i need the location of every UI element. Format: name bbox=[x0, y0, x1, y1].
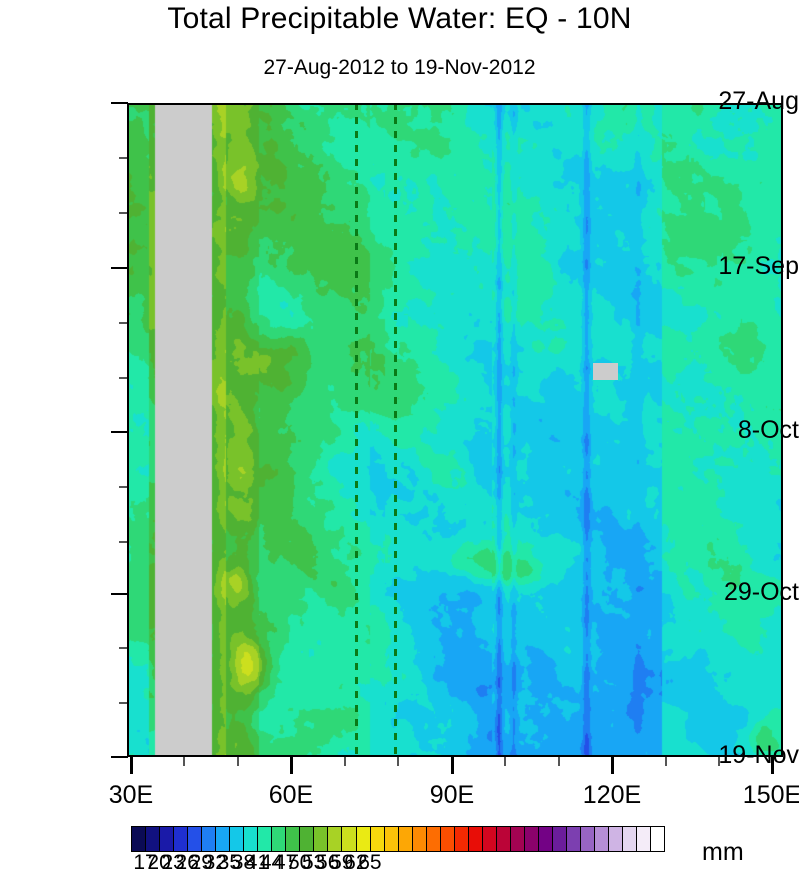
y-tick-mark bbox=[119, 377, 128, 379]
x-tick-mark bbox=[504, 757, 506, 766]
colorbar-swatch bbox=[581, 827, 595, 851]
x-tick-mark bbox=[237, 757, 239, 766]
colorbar-swatch bbox=[230, 827, 244, 851]
vertical-dashed-line-72e bbox=[355, 103, 358, 757]
colorbar-swatch bbox=[328, 827, 342, 851]
colorbar-swatch bbox=[427, 827, 441, 851]
x-tick-mark bbox=[611, 757, 614, 774]
colorbar-swatch bbox=[623, 827, 637, 851]
x-tick-label: 150E bbox=[724, 781, 799, 810]
colorbar-swatch bbox=[469, 827, 483, 851]
colorbar-swatch bbox=[160, 827, 174, 851]
y-tick-label: 29-Oct bbox=[693, 578, 799, 607]
colorbar-swatch bbox=[483, 827, 497, 851]
colorbar-swatch bbox=[595, 827, 609, 851]
x-tick-mark bbox=[558, 757, 560, 766]
x-tick-mark bbox=[344, 757, 346, 766]
figure-subtitle: 27-Aug-2012 to 19-Nov-2012 bbox=[0, 56, 799, 80]
x-tick-label: 30E bbox=[83, 781, 179, 810]
colorbar[interactable] bbox=[131, 826, 665, 852]
colorbar-swatch bbox=[385, 827, 399, 851]
colorbar-swatch bbox=[539, 827, 553, 851]
y-tick-mark bbox=[119, 322, 128, 324]
colorbar-swatch bbox=[342, 827, 356, 851]
y-tick-label: 17-Sep bbox=[693, 252, 799, 281]
y-tick-mark bbox=[119, 647, 128, 649]
colorbar-tick-label: 65 bbox=[350, 851, 390, 875]
colorbar-swatch bbox=[132, 827, 146, 851]
colorbar-swatch bbox=[609, 827, 623, 851]
y-tick-mark bbox=[111, 756, 128, 758]
colorbar-swatch bbox=[553, 827, 567, 851]
x-tick-mark bbox=[130, 757, 133, 774]
colorbar-swatch bbox=[511, 827, 525, 851]
colorbar-swatch bbox=[202, 827, 216, 851]
x-tick-label: 90E bbox=[404, 781, 500, 810]
colorbar-swatch bbox=[272, 827, 286, 851]
y-tick-label: 8-Oct bbox=[693, 416, 799, 445]
colorbar-swatch bbox=[188, 827, 202, 851]
y-tick-mark bbox=[119, 486, 128, 488]
colorbar-swatch bbox=[525, 827, 539, 851]
y-tick-mark bbox=[119, 157, 128, 159]
colorbar-swatch bbox=[637, 827, 651, 851]
colorbar-swatch bbox=[258, 827, 272, 851]
y-tick-mark bbox=[111, 267, 128, 269]
colorbar-swatch bbox=[300, 827, 314, 851]
x-tick-mark bbox=[451, 757, 454, 774]
page-title: Total Precipitable Water: EQ - 10N bbox=[0, 2, 799, 36]
y-tick-label: 19-Nov bbox=[693, 741, 799, 770]
x-tick-label: 120E bbox=[564, 781, 660, 810]
colorbar-swatch bbox=[286, 827, 300, 851]
precipitable-water-field bbox=[127, 103, 783, 757]
colorbar-swatch bbox=[371, 827, 385, 851]
colorbar-swatch bbox=[216, 827, 230, 851]
y-tick-mark bbox=[111, 593, 128, 595]
x-tick-mark bbox=[771, 757, 774, 774]
hovmoller-plot-area[interactable] bbox=[127, 103, 783, 757]
colorbar-swatch bbox=[413, 827, 427, 851]
y-tick-mark bbox=[111, 102, 128, 104]
colorbar-swatch bbox=[455, 827, 469, 851]
colorbar-swatch bbox=[399, 827, 413, 851]
y-tick-mark bbox=[119, 212, 128, 214]
x-tick-mark bbox=[665, 757, 667, 766]
figure-root: Total Precipitable Water: EQ - 10N 27-Au… bbox=[0, 0, 799, 872]
colorbar-swatch bbox=[314, 827, 328, 851]
x-tick-label: 60E bbox=[243, 781, 339, 810]
colorbar-swatch bbox=[146, 827, 160, 851]
missing-data-patch bbox=[593, 363, 618, 380]
y-tick-mark bbox=[119, 541, 128, 543]
colorbar-swatch bbox=[357, 827, 371, 851]
x-tick-mark bbox=[183, 757, 185, 766]
x-tick-mark bbox=[290, 757, 293, 774]
colorbar-swatch bbox=[567, 827, 581, 851]
x-tick-mark bbox=[397, 757, 399, 766]
x-tick-mark bbox=[718, 757, 720, 766]
y-tick-mark bbox=[119, 702, 128, 704]
colorbar-swatch bbox=[244, 827, 258, 851]
colorbar-unit-label: mm bbox=[702, 838, 744, 867]
colorbar-swatch bbox=[651, 827, 664, 851]
colorbar-swatch bbox=[441, 827, 455, 851]
colorbar-swatch bbox=[174, 827, 188, 851]
y-tick-mark bbox=[111, 431, 128, 433]
y-tick-label: 27-Aug bbox=[693, 87, 799, 116]
vertical-dashed-line-80e bbox=[394, 103, 397, 757]
colorbar-swatch bbox=[497, 827, 511, 851]
